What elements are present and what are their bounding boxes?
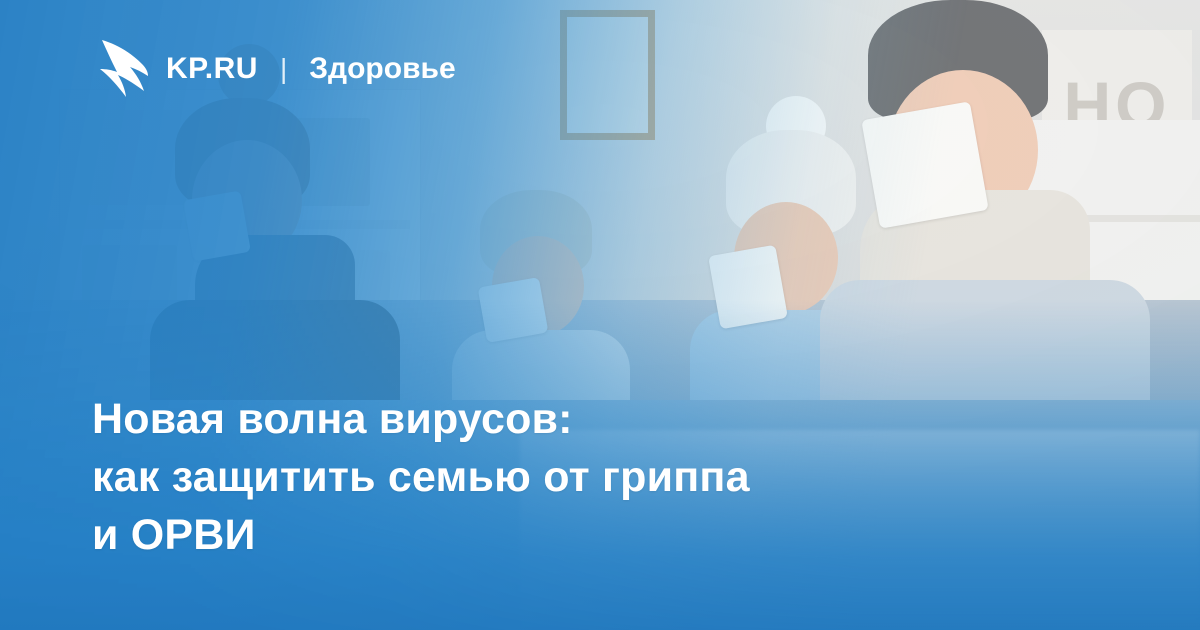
site-header: KP.RU | Здоровье [96,38,456,100]
header-separator: | [274,53,293,85]
headline-line-2: как защитить семью от гриппа [92,448,992,506]
share-card: HO [0,0,1200,630]
headline-line-3: и ОРВИ [92,506,992,564]
headline: Новая волна вирусов: как защитить семью … [92,390,992,564]
kp-bird-logo-icon [96,38,150,100]
headline-line-1: Новая волна вирусов: [92,390,992,448]
section-name: Здоровье [309,52,455,86]
brand-name: KP.RU [166,52,258,86]
